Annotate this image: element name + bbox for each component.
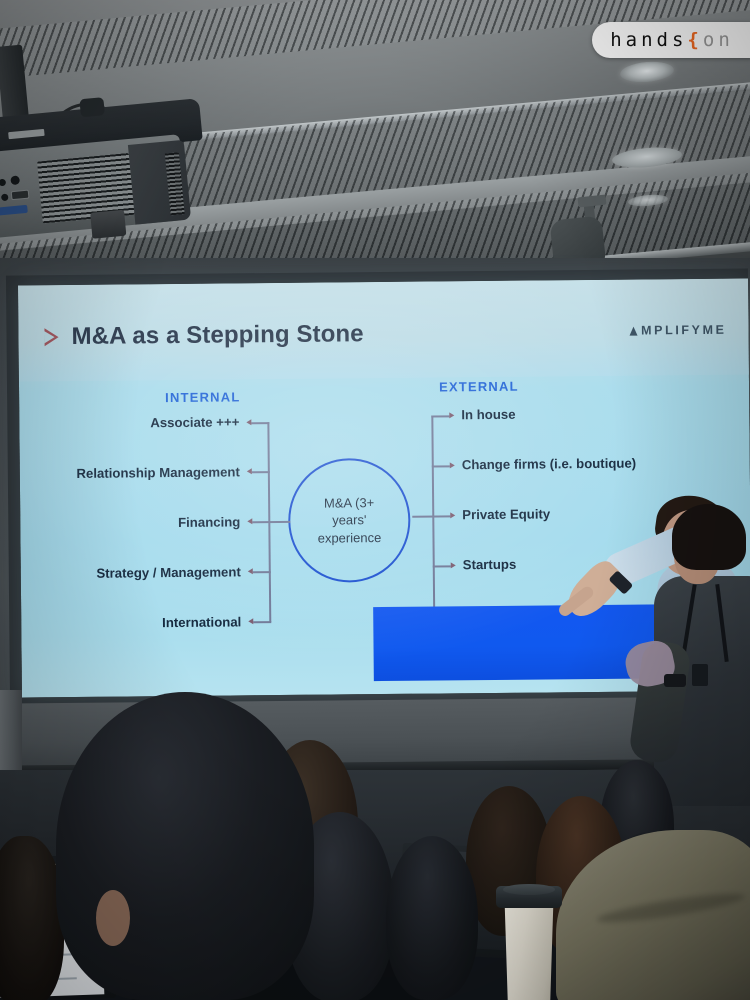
- handson-watermark: hands{on: [592, 22, 750, 58]
- watermark-brace: {: [687, 29, 702, 51]
- list-item: Private Equity: [462, 506, 550, 522]
- list-item: In house: [461, 407, 515, 423]
- lanyard-badge: [692, 664, 708, 686]
- ceiling-projector: [0, 98, 210, 240]
- list-item: Change firms (i.e. boutique): [462, 456, 637, 473]
- lecture-room-photo: hands{on M&A as a Stepping Stone MPLIFYM…: [0, 0, 750, 1000]
- projector-brand-label: [8, 129, 44, 139]
- audience-ear: [96, 890, 130, 946]
- colleague-wristwatch: [664, 674, 686, 687]
- coffee-cup-lid-top: [503, 884, 555, 895]
- watermark-text-on: on: [703, 29, 734, 51]
- projector-lens-housing: [90, 210, 126, 239]
- audience-head-foreground: [56, 692, 314, 1000]
- projector-port: [1, 194, 9, 202]
- projector-knob: [79, 97, 105, 117]
- colleague-hair: [672, 504, 746, 570]
- projector-port: [0, 179, 6, 187]
- projector-port-panel: [0, 171, 30, 219]
- projector-connector-strip: [0, 205, 28, 217]
- projector-vga-port: [11, 190, 30, 201]
- list-item: Startups: [463, 557, 517, 573]
- audience-head: [386, 836, 478, 1000]
- watermark-text-hands: hands: [610, 29, 687, 51]
- projector-port: [10, 175, 20, 185]
- coffee-cup: [501, 894, 557, 1000]
- audience-head: [0, 836, 64, 1000]
